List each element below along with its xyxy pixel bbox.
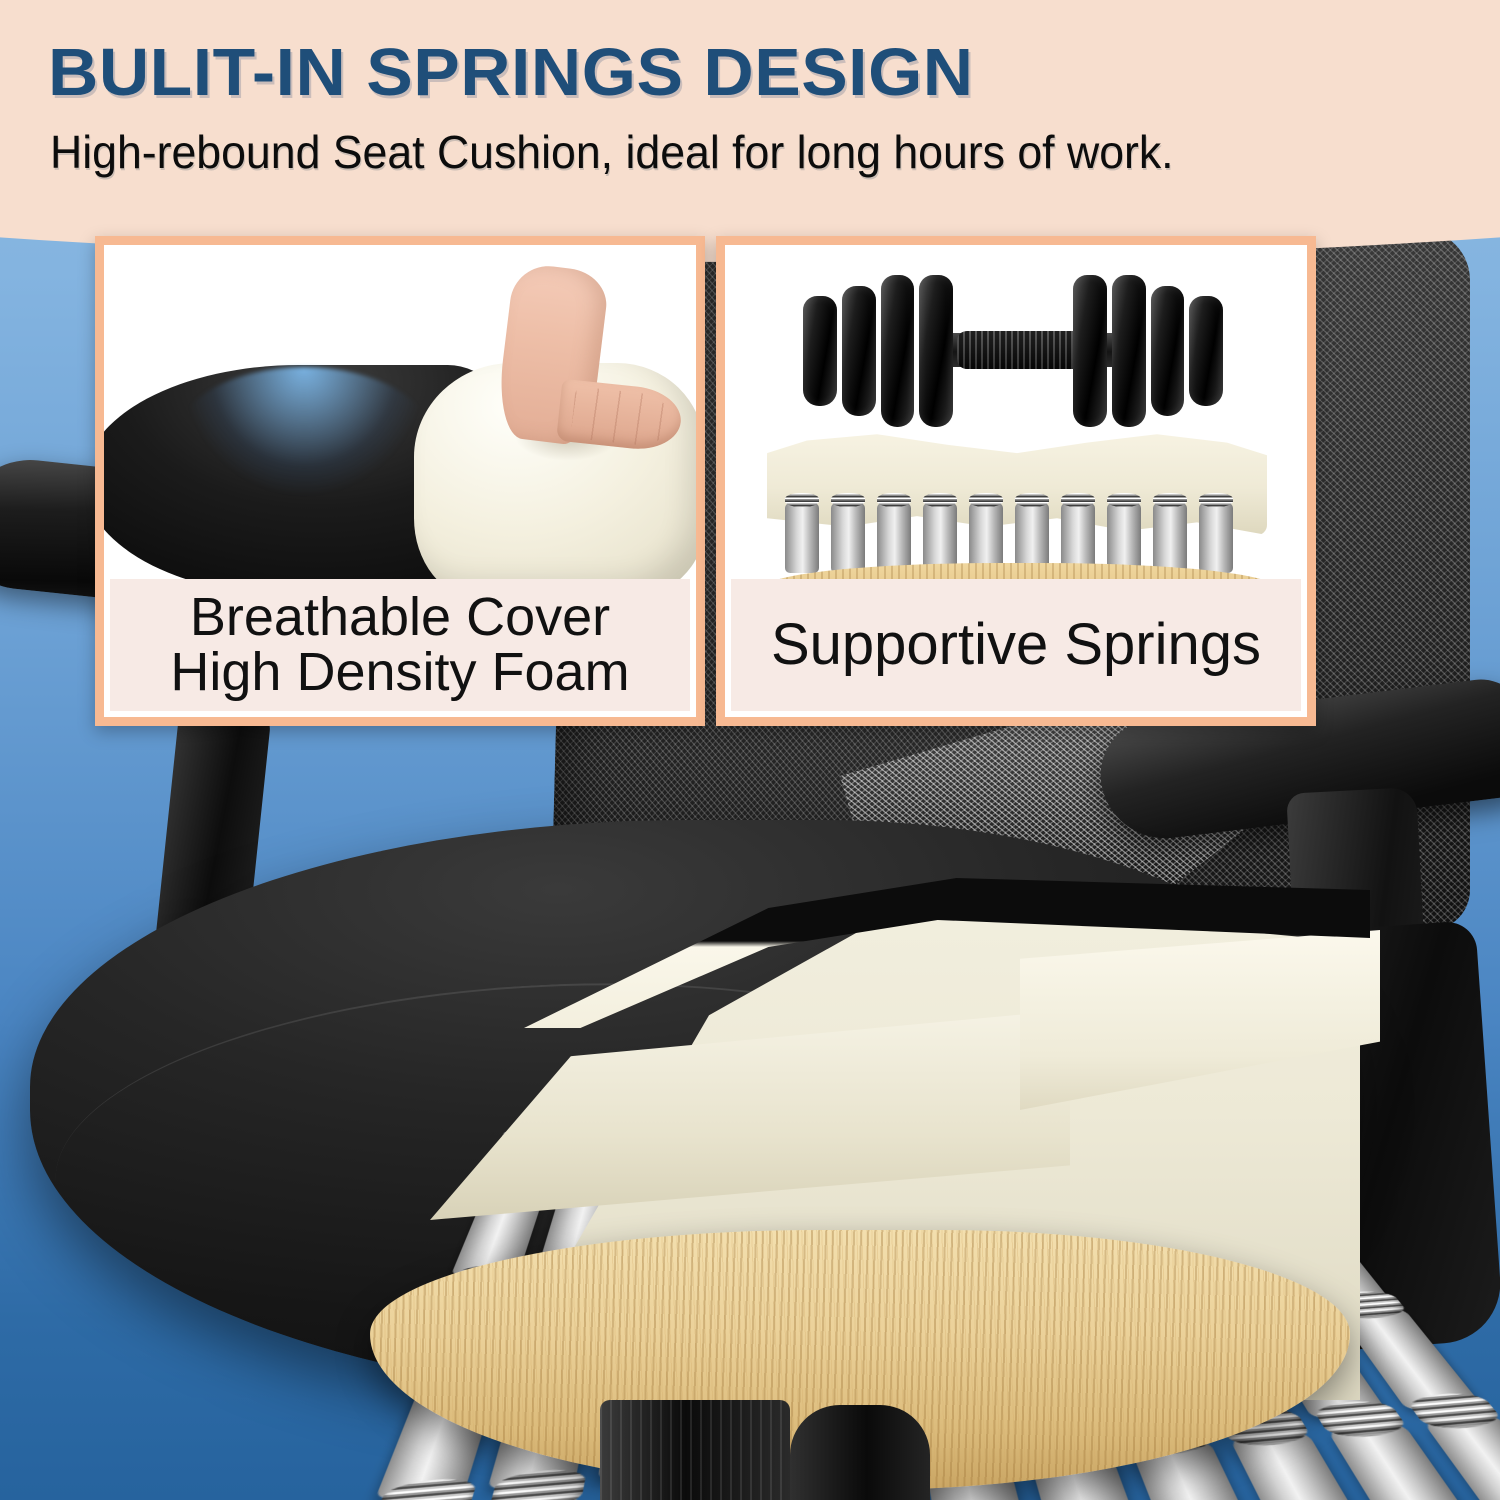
caption-line-2: High Density Foam [170,645,629,700]
panel-caption-breathable-cover: Breathable Cover High Density Foam [110,579,690,711]
dumbbell-plate [881,275,915,427]
caption-line-1: Supportive Springs [771,615,1261,674]
dumbbell-plate [1112,275,1146,427]
dumbbell-plate [919,275,953,427]
dumbbell-plate [842,286,876,417]
dumbbell-weight-stack-left [803,275,953,427]
feature-panel-supportive-springs: Supportive Springs [716,236,1316,726]
header-band: BULIT-IN SPRINGS DESIGN High-rebound Sea… [0,0,1500,262]
pocket-spring [1230,1433,1384,1500]
dumbbell-plate [1073,275,1107,427]
page-title: BULIT-IN SPRINGS DESIGN [48,34,974,111]
page-subtitle: High-rebound Seat Cushion, ideal for lon… [50,125,1174,179]
dumbbell-plate [1151,286,1185,417]
panel-inner: Breathable Cover High Density Foam [104,245,696,717]
dumbbell-weight-stack-right [1073,275,1223,427]
feature-panel-breathable-cover: Breathable Cover High Density Foam [95,236,705,726]
chair-gas-lift-cover [790,1405,930,1500]
pocket-spring [877,503,911,573]
caption-line-1: Breathable Cover [190,590,610,645]
pocket-spring [1153,503,1187,573]
pocket-spring [1424,1416,1500,1500]
pocket-spring [785,503,819,573]
panel-caption-supportive-springs: Supportive Springs [731,579,1301,711]
panel-inner: Supportive Springs [725,245,1307,717]
pocket-spring [1107,503,1141,573]
panel-illustration-supportive-springs [725,245,1307,579]
chair-gas-lift-cylinder [600,1400,790,1500]
cushion-airflow-glow [174,367,434,517]
panel-illustration-breathable-cover [104,245,696,579]
pocket-spring [1199,503,1233,573]
dumbbell-plate [803,296,837,405]
dumbbell-plate [1189,296,1223,405]
product-feature-image: BULIT-IN SPRINGS DESIGN High-rebound Sea… [0,0,1500,1500]
pocket-spring [1328,1425,1493,1500]
pocket-spring [831,503,865,573]
